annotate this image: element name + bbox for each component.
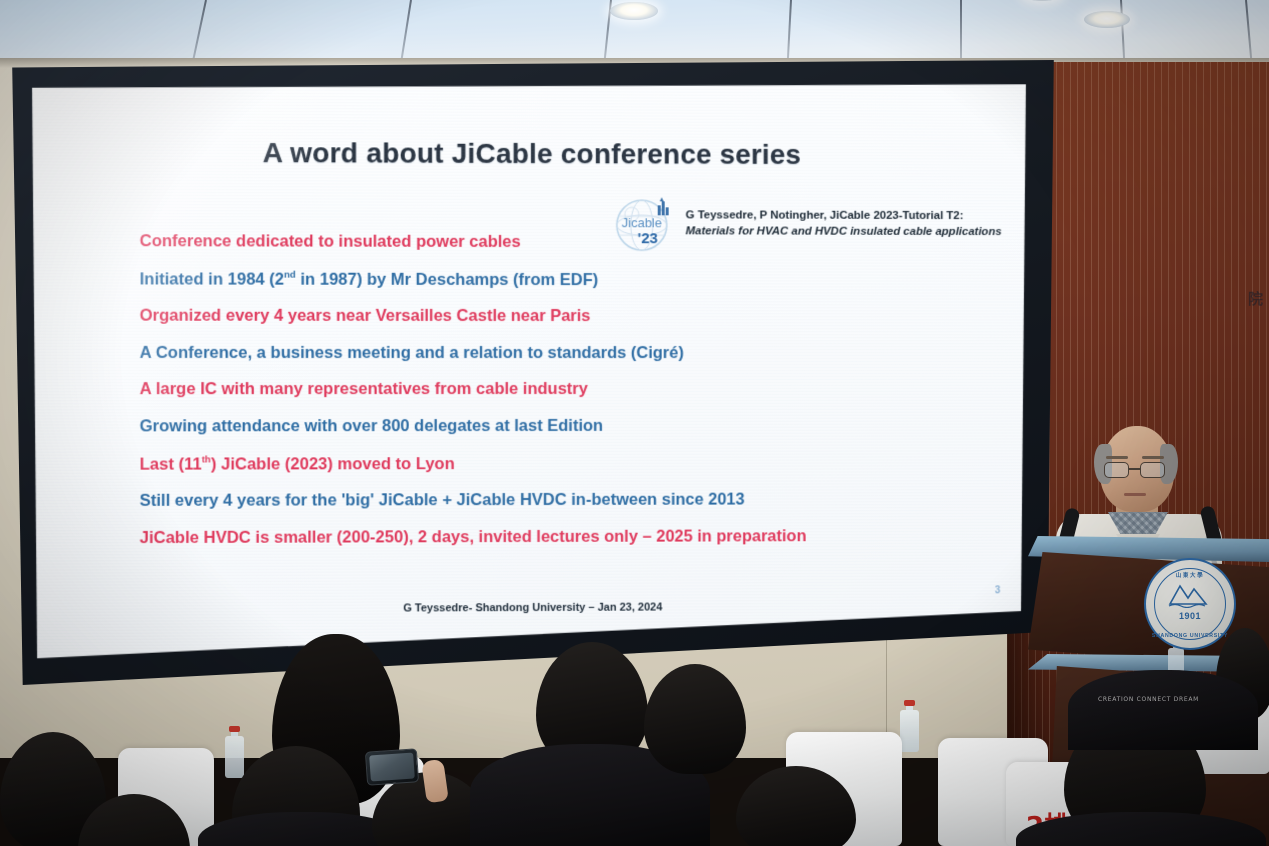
wall-banner-text: 院 [1248, 288, 1263, 309]
slide-bullet-4: A Conference, a business meeting and a r… [140, 344, 940, 361]
audience-area: 1座 2排5座 CREATION CONNECT DREAM [0, 616, 1269, 846]
slide-page-number: 3 [995, 585, 1000, 596]
svg-text:Jicable: Jicable [622, 215, 662, 230]
speaker-brow-right [1142, 456, 1164, 459]
glasses-lens-left [1104, 462, 1129, 478]
phone-screen [369, 752, 415, 781]
slide-bullet-3: Organized every 4 years near Versailles … [140, 307, 940, 324]
projection-screen: A word about JiCable conference series [8, 60, 1058, 685]
slide-bullet-1: Conference dedicated to insulated power … [140, 233, 940, 251]
slide-bullet-2: Initiated in 1984 (2nd in 1987) by Mr De… [140, 270, 940, 288]
water-bottle [900, 700, 919, 752]
audience-member-shoulders: CREATION CONNECT DREAM [1068, 670, 1258, 750]
bullet-superscript: th [202, 454, 211, 465]
slide-footer: G Teyssedre- Shandong University – Jan 2… [30, 600, 1028, 616]
speaker-mouth [1124, 493, 1146, 496]
emblem-chinese-text: 山東大學 [1146, 571, 1234, 579]
speaker-brow-left [1106, 456, 1128, 459]
glasses-bridge [1129, 468, 1140, 470]
presentation-slide: A word about JiCable conference series [30, 80, 1028, 659]
slide-title: A word about JiCable conference series [30, 136, 1028, 171]
audience-hand [421, 759, 449, 804]
slide-bullet-9: JiCable HVDC is smaller (200-250), 2 day… [140, 527, 940, 546]
glasses-lens-right [1140, 462, 1165, 478]
ceiling-downlight [1084, 11, 1130, 28]
lecture-hall-photo: 院 A word about JiCable conference series [0, 0, 1269, 846]
bullet-superscript: nd [284, 269, 296, 280]
slide-bullet-7: Last (11th) JiCable (2023) moved to Lyon [140, 454, 940, 472]
slide-bullet-list: Conference dedicated to insulated power … [140, 233, 940, 566]
water-bottle [225, 726, 244, 778]
emblem-mountain-icon [1166, 582, 1214, 608]
ceiling-downlight [610, 2, 658, 20]
audience-member-head [644, 664, 746, 774]
credit-line-1: G Teyssedre, P Notingher, JiCable 2023-T… [686, 209, 1002, 225]
smartphone-recording[interactable] [365, 748, 419, 786]
slide-bullet-6: Growing attendance with over 800 delegat… [140, 418, 940, 435]
slide-bullet-8: Still every 4 years for the 'big' JiCabl… [140, 491, 940, 509]
ceiling-downlight [1022, 0, 1062, 1]
slide-bullet-5: A large IC with many representatives fro… [140, 381, 940, 398]
jacket-print-text: CREATION CONNECT DREAM [1098, 696, 1199, 703]
